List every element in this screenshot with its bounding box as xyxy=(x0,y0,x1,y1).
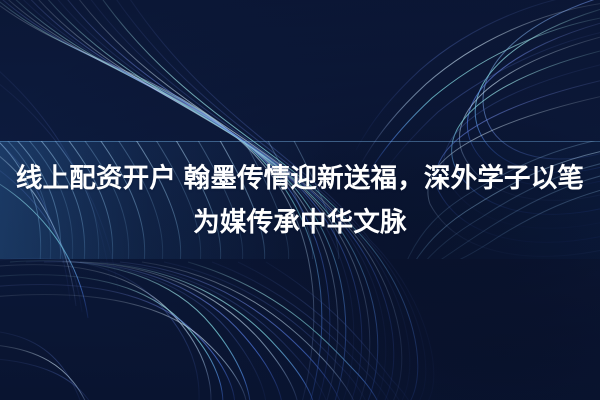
banner-image: 线上配资开户 翰墨传情迎新送福，深外学子以笔 为媒传承中华文脉 xyxy=(0,0,600,400)
headline-text-block: 线上配资开户 翰墨传情迎新送福，深外学子以笔 为媒传承中华文脉 xyxy=(0,141,600,259)
headline-line-1: 线上配资开户 翰墨传情迎新送福，深外学子以笔 xyxy=(16,156,584,200)
headline-line-2: 为媒传承中华文脉 xyxy=(193,200,407,244)
